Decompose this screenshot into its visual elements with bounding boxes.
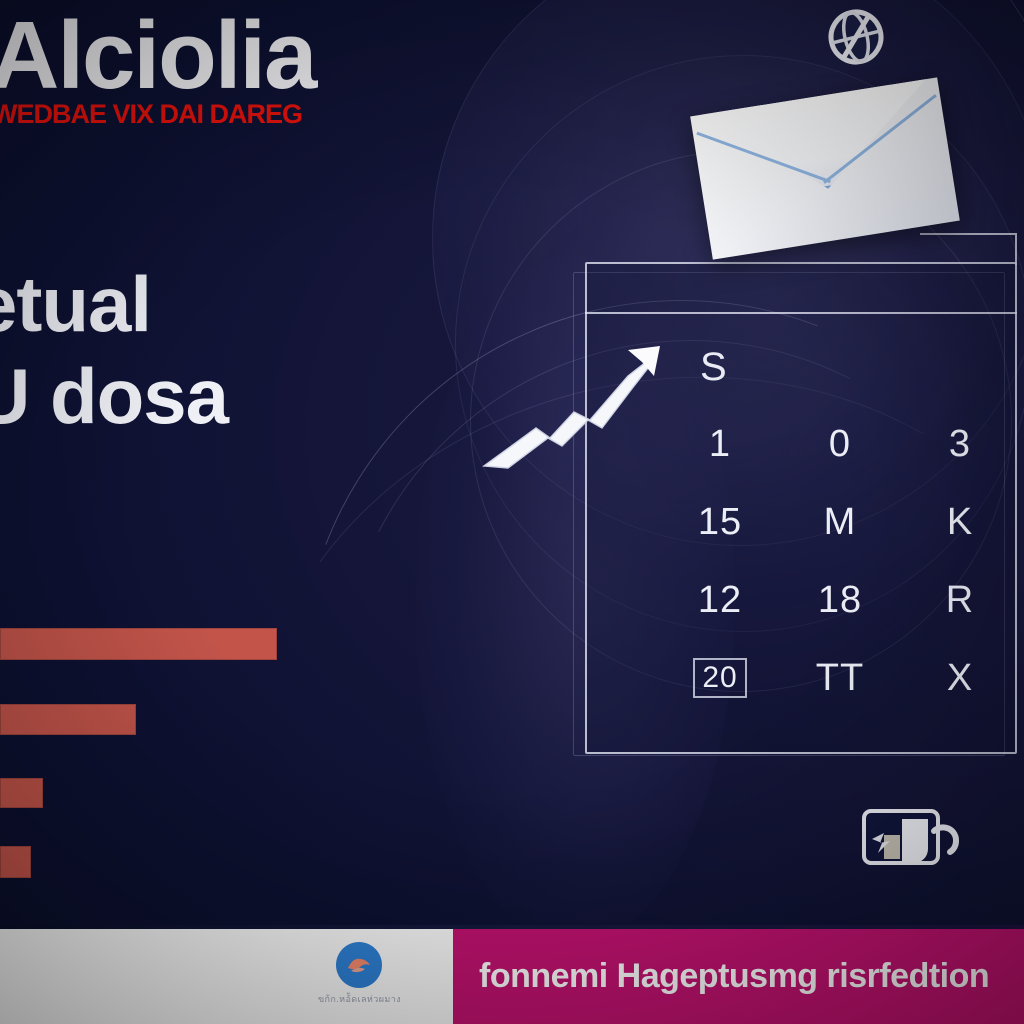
background-vignette — [0, 0, 1024, 1024]
screenshot-root: Alciolia WEDBAE VIX DAI DAREG etual U do… — [0, 0, 1024, 1024]
